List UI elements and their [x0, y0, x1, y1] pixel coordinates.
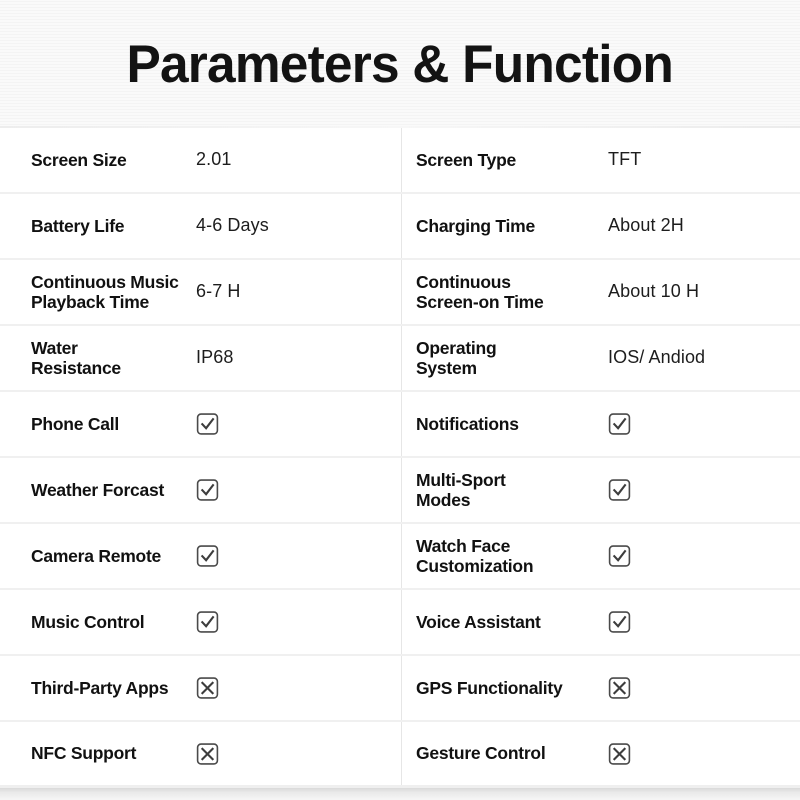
- checkbox-checked-icon: [196, 610, 219, 634]
- table-row: Screen Size2.01Screen TypeTFT: [0, 128, 800, 194]
- spec-value: 2.01: [196, 149, 231, 171]
- table-row: NFC SupportGesture Control: [0, 722, 800, 788]
- checkbox-checked-icon: [608, 610, 631, 634]
- table-row: Water ResistanceIP68Operating SystemIOS/…: [0, 326, 800, 392]
- table-cell-left: Weather Forcast: [0, 458, 401, 522]
- spec-label: Multi-Sport Modes: [416, 470, 608, 511]
- table-cell-right: Multi-Sport Modes: [401, 458, 800, 522]
- spec-label: Water Resistance: [31, 338, 196, 379]
- spec-label: Screen Size: [31, 150, 196, 170]
- spec-label: Screen Type: [416, 150, 608, 170]
- table-cell-left: Third-Party Apps: [0, 656, 401, 720]
- table-row: Music ControlVoice Assistant: [0, 590, 800, 656]
- table-cell-right: Screen TypeTFT: [401, 128, 800, 192]
- checkbox-checked-icon: [196, 544, 219, 568]
- spec-value: TFT: [608, 149, 641, 171]
- spec-label: Notifications: [416, 414, 608, 434]
- table-cell-right: GPS Functionality: [401, 656, 800, 720]
- checkbox-crossed-icon: [196, 676, 219, 700]
- spec-value: 6-7 H: [196, 281, 241, 303]
- table-row: Continuous Music Playback Time6-7 HConti…: [0, 260, 800, 326]
- table-row: Third-Party AppsGPS Functionality: [0, 656, 800, 722]
- table-cell-right: Continuous Screen-on TimeAbout 10 H: [401, 260, 800, 324]
- table-cell-left: Screen Size2.01: [0, 128, 401, 192]
- specifications-table: Screen Size2.01Screen TypeTFTBattery Lif…: [0, 128, 800, 788]
- table-cell-right: Operating SystemIOS/ Andiod: [401, 326, 800, 390]
- table-body: Screen Size2.01Screen TypeTFTBattery Lif…: [0, 128, 800, 788]
- table-cell-right: Charging TimeAbout 2H: [401, 194, 800, 258]
- spec-label: Continuous Music Playback Time: [31, 272, 196, 313]
- checkbox-checked-icon: [196, 478, 219, 502]
- spec-value: IP68: [196, 347, 233, 369]
- table-cell-left: NFC Support: [0, 722, 401, 785]
- spec-label: Voice Assistant: [416, 612, 608, 632]
- table-cell-right: Gesture Control: [401, 722, 800, 785]
- spec-label: Watch Face Customization: [416, 536, 608, 577]
- spec-label: Operating System: [416, 338, 608, 379]
- checkbox-crossed-icon: [608, 742, 631, 766]
- spec-value: About 10 H: [608, 281, 699, 303]
- table-row: Battery Life4-6 DaysCharging TimeAbout 2…: [0, 194, 800, 260]
- spec-label: Phone Call: [31, 414, 196, 434]
- spec-label: Battery Life: [31, 216, 196, 236]
- spec-sheet-page: Parameters & Function Screen Size2.01Scr…: [0, 0, 800, 800]
- spec-label: Weather Forcast: [31, 480, 196, 500]
- table-cell-right: Watch Face Customization: [401, 524, 800, 588]
- spec-label: Third-Party Apps: [31, 678, 196, 698]
- table-row: Weather ForcastMulti-Sport Modes: [0, 458, 800, 524]
- footer-strip: [0, 788, 800, 800]
- page-header: Parameters & Function: [0, 0, 800, 128]
- spec-value: IOS/ Andiod: [608, 347, 705, 369]
- table-cell-left: Continuous Music Playback Time6-7 H: [0, 260, 401, 324]
- spec-label: Continuous Screen-on Time: [416, 272, 608, 313]
- table-cell-left: Water ResistanceIP68: [0, 326, 401, 390]
- spec-label: Gesture Control: [416, 743, 608, 763]
- spec-value: 4-6 Days: [196, 215, 269, 237]
- page-title: Parameters & Function: [127, 38, 674, 91]
- checkbox-checked-icon: [608, 544, 631, 568]
- table-cell-left: Phone Call: [0, 392, 401, 456]
- spec-label: Music Control: [31, 612, 196, 632]
- spec-label: NFC Support: [31, 743, 196, 763]
- checkbox-crossed-icon: [608, 676, 631, 700]
- table-cell-right: Notifications: [401, 392, 800, 456]
- table-row: Phone CallNotifications: [0, 392, 800, 458]
- table-cell-left: Music Control: [0, 590, 401, 654]
- checkbox-crossed-icon: [196, 742, 219, 766]
- checkbox-checked-icon: [608, 412, 631, 436]
- checkbox-checked-icon: [196, 412, 219, 436]
- spec-value: About 2H: [608, 215, 684, 237]
- spec-label: GPS Functionality: [416, 678, 608, 698]
- table-cell-left: Camera Remote: [0, 524, 401, 588]
- table-cell-right: Voice Assistant: [401, 590, 800, 654]
- spec-label: Charging Time: [416, 216, 608, 236]
- table-cell-left: Battery Life4-6 Days: [0, 194, 401, 258]
- checkbox-checked-icon: [608, 478, 631, 502]
- spec-label: Camera Remote: [31, 546, 196, 566]
- table-row: Camera RemoteWatch Face Customization: [0, 524, 800, 590]
